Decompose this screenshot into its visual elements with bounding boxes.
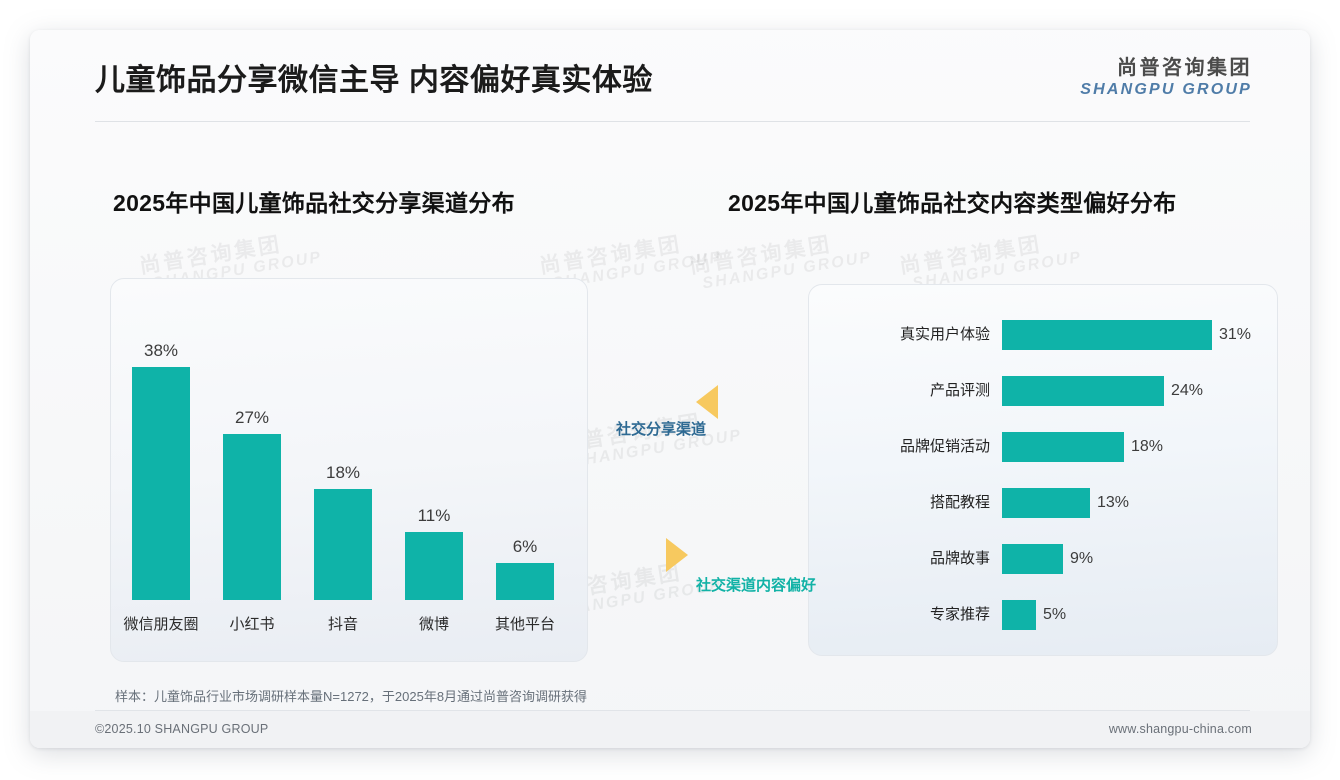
column-category-label: 小红书 [206, 613, 298, 634]
header-divider [95, 121, 1250, 122]
bar-row-bar[interactable] [1002, 488, 1090, 518]
bar-row-value: 13% [1097, 488, 1129, 518]
right-chart-title: 2025年中国儿童饰品社交内容类型偏好分布 [728, 184, 1176, 218]
bar-row[interactable]: 专家推荐 5% [820, 600, 1270, 630]
brand-logo: 尚普咨询集团 SHANGPU GROUP [1080, 58, 1252, 98]
column-category-label: 抖音 [297, 613, 389, 634]
column-value-label: 6% [479, 537, 571, 557]
bar-row-label: 品牌故事 [820, 544, 990, 574]
column-bar[interactable] [314, 489, 372, 600]
social-share-channel-column-chart: 38% 微信朋友圈 27% 小红书 18% 抖音 11% 微博 6% 其他平台 [115, 310, 585, 640]
bar-row-bar[interactable] [1002, 320, 1212, 350]
bar-row-bar[interactable] [1002, 432, 1124, 462]
watermark-cn: 尚普咨询集团 [138, 228, 321, 278]
column-value-label: 27% [206, 408, 298, 428]
bar-row-label: 真实用户体验 [820, 320, 990, 350]
bar-row[interactable]: 品牌故事 9% [820, 544, 1270, 574]
copyright-text: ©2025.10 SHANGPU GROUP [95, 722, 268, 736]
bar-row-value: 24% [1171, 376, 1203, 406]
watermark-cn: 尚普咨询集团 [538, 228, 721, 278]
column-category-label: 其他平台 [479, 613, 571, 634]
triangle-left-icon [696, 385, 718, 419]
column-category-label: 微博 [388, 613, 480, 634]
content-preference-marker-label: 社交渠道内容偏好 [696, 574, 816, 595]
column-item[interactable]: 6% 其他平台 [479, 310, 571, 640]
column-bar[interactable] [496, 563, 554, 600]
bar-row-label: 产品评测 [820, 376, 990, 406]
bar-row-label: 搭配教程 [820, 488, 990, 518]
slide-footer: ©2025.10 SHANGPU GROUP www.shangpu-china… [30, 711, 1310, 748]
bar-row-bar[interactable] [1002, 376, 1164, 406]
sample-footnote: 样本：儿童饰品行业市场调研样本量N=1272，于2025年8月通过尚普咨询调研获… [115, 686, 587, 705]
watermark-cn: 尚普咨询集团 [898, 228, 1081, 278]
bar-row-value: 18% [1131, 432, 1163, 462]
column-value-label: 38% [115, 341, 207, 361]
website-link[interactable]: www.shangpu-china.com [1109, 722, 1252, 736]
content-type-preference-bar-chart: 真实用户体验 31% 产品评测 24% 品牌促销活动 18% 搭配教程 13% … [820, 320, 1270, 645]
column-bar[interactable] [223, 434, 281, 600]
slide-header: 儿童饰品分享微信主导 内容偏好真实体验 尚普咨询集团 SHANGPU GROUP [30, 30, 1310, 122]
column-value-label: 18% [297, 463, 389, 483]
social-share-channel-marker-label: 社交分享渠道 [616, 418, 706, 439]
column-category-label: 微信朋友圈 [115, 613, 207, 634]
bar-row[interactable]: 品牌促销活动 18% [820, 432, 1270, 462]
bar-row-label: 专家推荐 [820, 600, 990, 630]
bar-row[interactable]: 产品评测 24% [820, 376, 1270, 406]
bar-row-value: 5% [1043, 600, 1066, 630]
bar-row[interactable]: 真实用户体验 31% [820, 320, 1270, 350]
column-item[interactable]: 27% 小红书 [206, 310, 298, 640]
triangle-right-icon [666, 538, 688, 572]
watermark-cn: 尚普咨询集团 [688, 228, 871, 278]
bar-row[interactable]: 搭配教程 13% [820, 488, 1270, 518]
column-item[interactable]: 11% 微博 [388, 310, 480, 640]
brand-name-en: SHANGPU GROUP [1080, 82, 1252, 98]
brand-name-cn: 尚普咨询集团 [1080, 58, 1252, 78]
column-value-label: 11% [388, 506, 480, 526]
column-bar[interactable] [405, 532, 463, 600]
column-item[interactable]: 18% 抖音 [297, 310, 389, 640]
slide-canvas: 儿童饰品分享微信主导 内容偏好真实体验 尚普咨询集团 SHANGPU GROUP… [30, 30, 1310, 748]
bar-row-bar[interactable] [1002, 600, 1036, 630]
column-item[interactable]: 38% 微信朋友圈 [115, 310, 207, 640]
bar-row-label: 品牌促销活动 [820, 432, 990, 462]
page-title: 儿童饰品分享微信主导 内容偏好真实体验 [95, 55, 653, 99]
bar-row-value: 9% [1070, 544, 1093, 574]
left-chart-title: 2025年中国儿童饰品社交分享渠道分布 [113, 184, 515, 218]
bar-row-bar[interactable] [1002, 544, 1063, 574]
column-bar[interactable] [132, 367, 190, 600]
bar-row-value: 31% [1219, 320, 1251, 350]
